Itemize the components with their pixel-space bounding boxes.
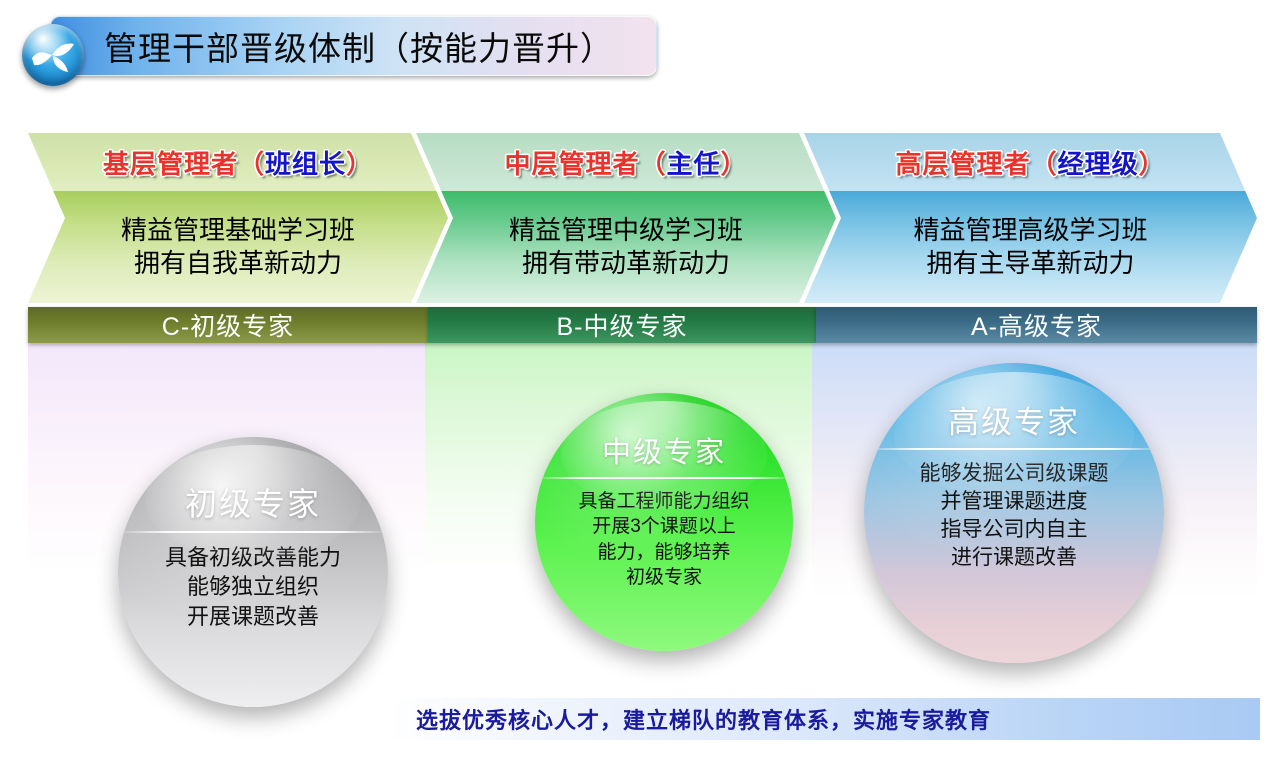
- level-banner-3-line1: 精益管理高级学习班: [913, 214, 1147, 247]
- level-banner-1-head: 基层管理者（班组长）: [28, 133, 448, 191]
- level-banner-2-line2: 拥有带动革新动力: [522, 247, 730, 280]
- level-banner-2-line1: 精益管理中级学习班: [509, 214, 743, 247]
- expert-sphere-senior-body: 能够发掘公司级课题 并管理课题进度 指导公司内自主 进行课题改善: [900, 460, 1129, 573]
- level-banner-2[interactable]: 中层管理者（主任） 精益管理中级学习班 拥有带动革新动力: [416, 133, 836, 303]
- footer-banner: 选拔优秀核心人才，建立梯队的教育体系，实施专家教育: [388, 698, 1260, 740]
- sphere-divider: [118, 531, 388, 533]
- level-banner-1[interactable]: 基层管理者（班组长） 精益管理基础学习班 拥有自我革新动力: [28, 133, 448, 303]
- level-banner-row: 基层管理者（班组长） 精益管理基础学习班 拥有自我革新动力 中层管理者（主任） …: [28, 133, 1257, 341]
- expert-sphere-intermediate-title: 中级专家: [602, 429, 726, 471]
- sphere-line: 初级专家: [578, 565, 749, 590]
- level-banner-2-body: 精益管理中级学习班 拥有带动革新动力: [416, 191, 836, 303]
- level-banner-1-body: 精益管理基础学习班 拥有自我革新动力: [28, 191, 448, 303]
- expert-sphere-senior-title: 高级专家: [948, 397, 1080, 442]
- sphere-line: 具备初级改善能力: [165, 543, 341, 572]
- level-banner-3-body: 精益管理高级学习班 拥有主导革新动力: [804, 191, 1257, 303]
- sphere-line: 进行课题改善: [920, 544, 1109, 572]
- rank-bar-2: B-中级专家: [428, 307, 816, 343]
- sphere-line: 能力，能够培养: [578, 540, 749, 565]
- level-banner-1-headline: 基层管理者（班组长）: [103, 144, 373, 181]
- sphere-line: 并管理课题进度: [920, 488, 1109, 516]
- rank-bar-3: A-高级专家: [816, 307, 1257, 343]
- sphere-line: 具备工程师能力组织: [578, 489, 749, 514]
- level-banner-3-headline: 高层管理者（经理级）: [895, 144, 1165, 181]
- rank-bar-1: C-初级专家: [28, 307, 428, 343]
- sphere-line: 指导公司内自主: [920, 516, 1109, 544]
- expert-sphere-intermediate[interactable]: 中级专家 具备工程师能力组织 开展3个课题以上 能力，能够培养 初级专家: [535, 393, 793, 651]
- expert-sphere-junior-body: 具备初级改善能力 能够独立组织 开展课题改善: [139, 543, 367, 631]
- footer-text: 选拔优秀核心人才，建立梯队的教育体系，实施专家教育: [388, 703, 991, 735]
- sphere-line: 开展课题改善: [165, 602, 341, 631]
- level-banner-2-headline: 中层管理者（主任）: [504, 144, 747, 181]
- page-title: 管理干部晋级体制（按能力晋升）: [104, 24, 649, 68]
- sphere-line: 能够独立组织: [165, 572, 341, 601]
- expert-sphere-junior-title: 初级专家: [185, 479, 321, 525]
- sphere-line: 开展3个课题以上: [578, 514, 749, 539]
- level-banner-3-line2: 拥有主导革新动力: [926, 247, 1134, 280]
- sphere-divider: [535, 477, 793, 479]
- expert-sphere-intermediate-body: 具备工程师能力组织 开展3个课题以上 能力，能够培养 初级专家: [560, 489, 767, 591]
- level-banner-3[interactable]: 高层管理者（经理级） 精益管理高级学习班 拥有主导革新动力: [804, 133, 1257, 303]
- level-banner-2-head: 中层管理者（主任）: [416, 133, 836, 191]
- level-banner-1-line1: 精益管理基础学习班: [121, 214, 355, 247]
- expert-sphere-junior[interactable]: 初级专家 具备初级改善能力 能够独立组织 开展课题改善: [118, 437, 388, 707]
- page-title-bar: 管理干部晋级体制（按能力晋升）: [12, 14, 657, 78]
- expert-sphere-senior[interactable]: 高级专家 能够发掘公司级课题 并管理课题进度 指导公司内自主 进行课题改善: [864, 363, 1164, 663]
- level-banner-1-line2: 拥有自我革新动力: [134, 247, 342, 280]
- sphere-line: 能够发掘公司级课题: [920, 460, 1109, 488]
- level-banner-3-head: 高层管理者（经理级）: [804, 133, 1257, 191]
- sphere-divider: [864, 448, 1164, 450]
- logo-icon: [22, 24, 84, 86]
